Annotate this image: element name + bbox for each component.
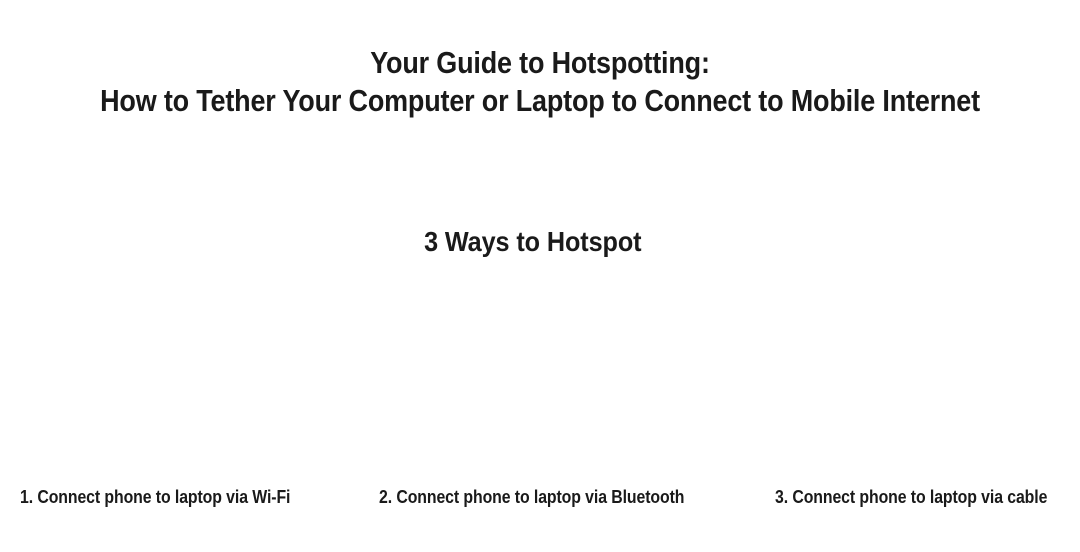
step-item: 2. Connect phone to laptop via Bluetooth [360, 486, 720, 508]
illustration-cable [720, 290, 1080, 475]
page-title: Your Guide to Hotspotting: How to Tether… [0, 44, 1080, 120]
section-heading-label: 3 Ways to Hotspot [424, 224, 641, 260]
illustration-bluetooth [360, 290, 720, 475]
page-title-line-1: Your Guide to Hotspotting: [70, 44, 1010, 82]
page-title-line-2: How to Tether Your Computer or Laptop to… [70, 82, 1010, 120]
step-caption-cable: 3. Connect phone to laptop via cable [775, 486, 1047, 508]
caption-row: 1. Connect phone to laptop via Wi-Fi 2. … [0, 486, 1080, 512]
illustration-wifi [0, 290, 360, 475]
section-heading: 3 Ways to Hotspot [0, 224, 1080, 260]
step-item: 1. Connect phone to laptop via Wi-Fi [0, 486, 360, 508]
infographic-page: Your Guide to Hotspotting: How to Tether… [0, 0, 1080, 552]
step-caption-wifi: 1. Connect phone to laptop via Wi-Fi [20, 486, 290, 508]
illustration-row [0, 290, 1080, 475]
step-caption-bluetooth: 2. Connect phone to laptop via Bluetooth [379, 486, 684, 508]
step-item: 3. Connect phone to laptop via cable [720, 486, 1080, 508]
